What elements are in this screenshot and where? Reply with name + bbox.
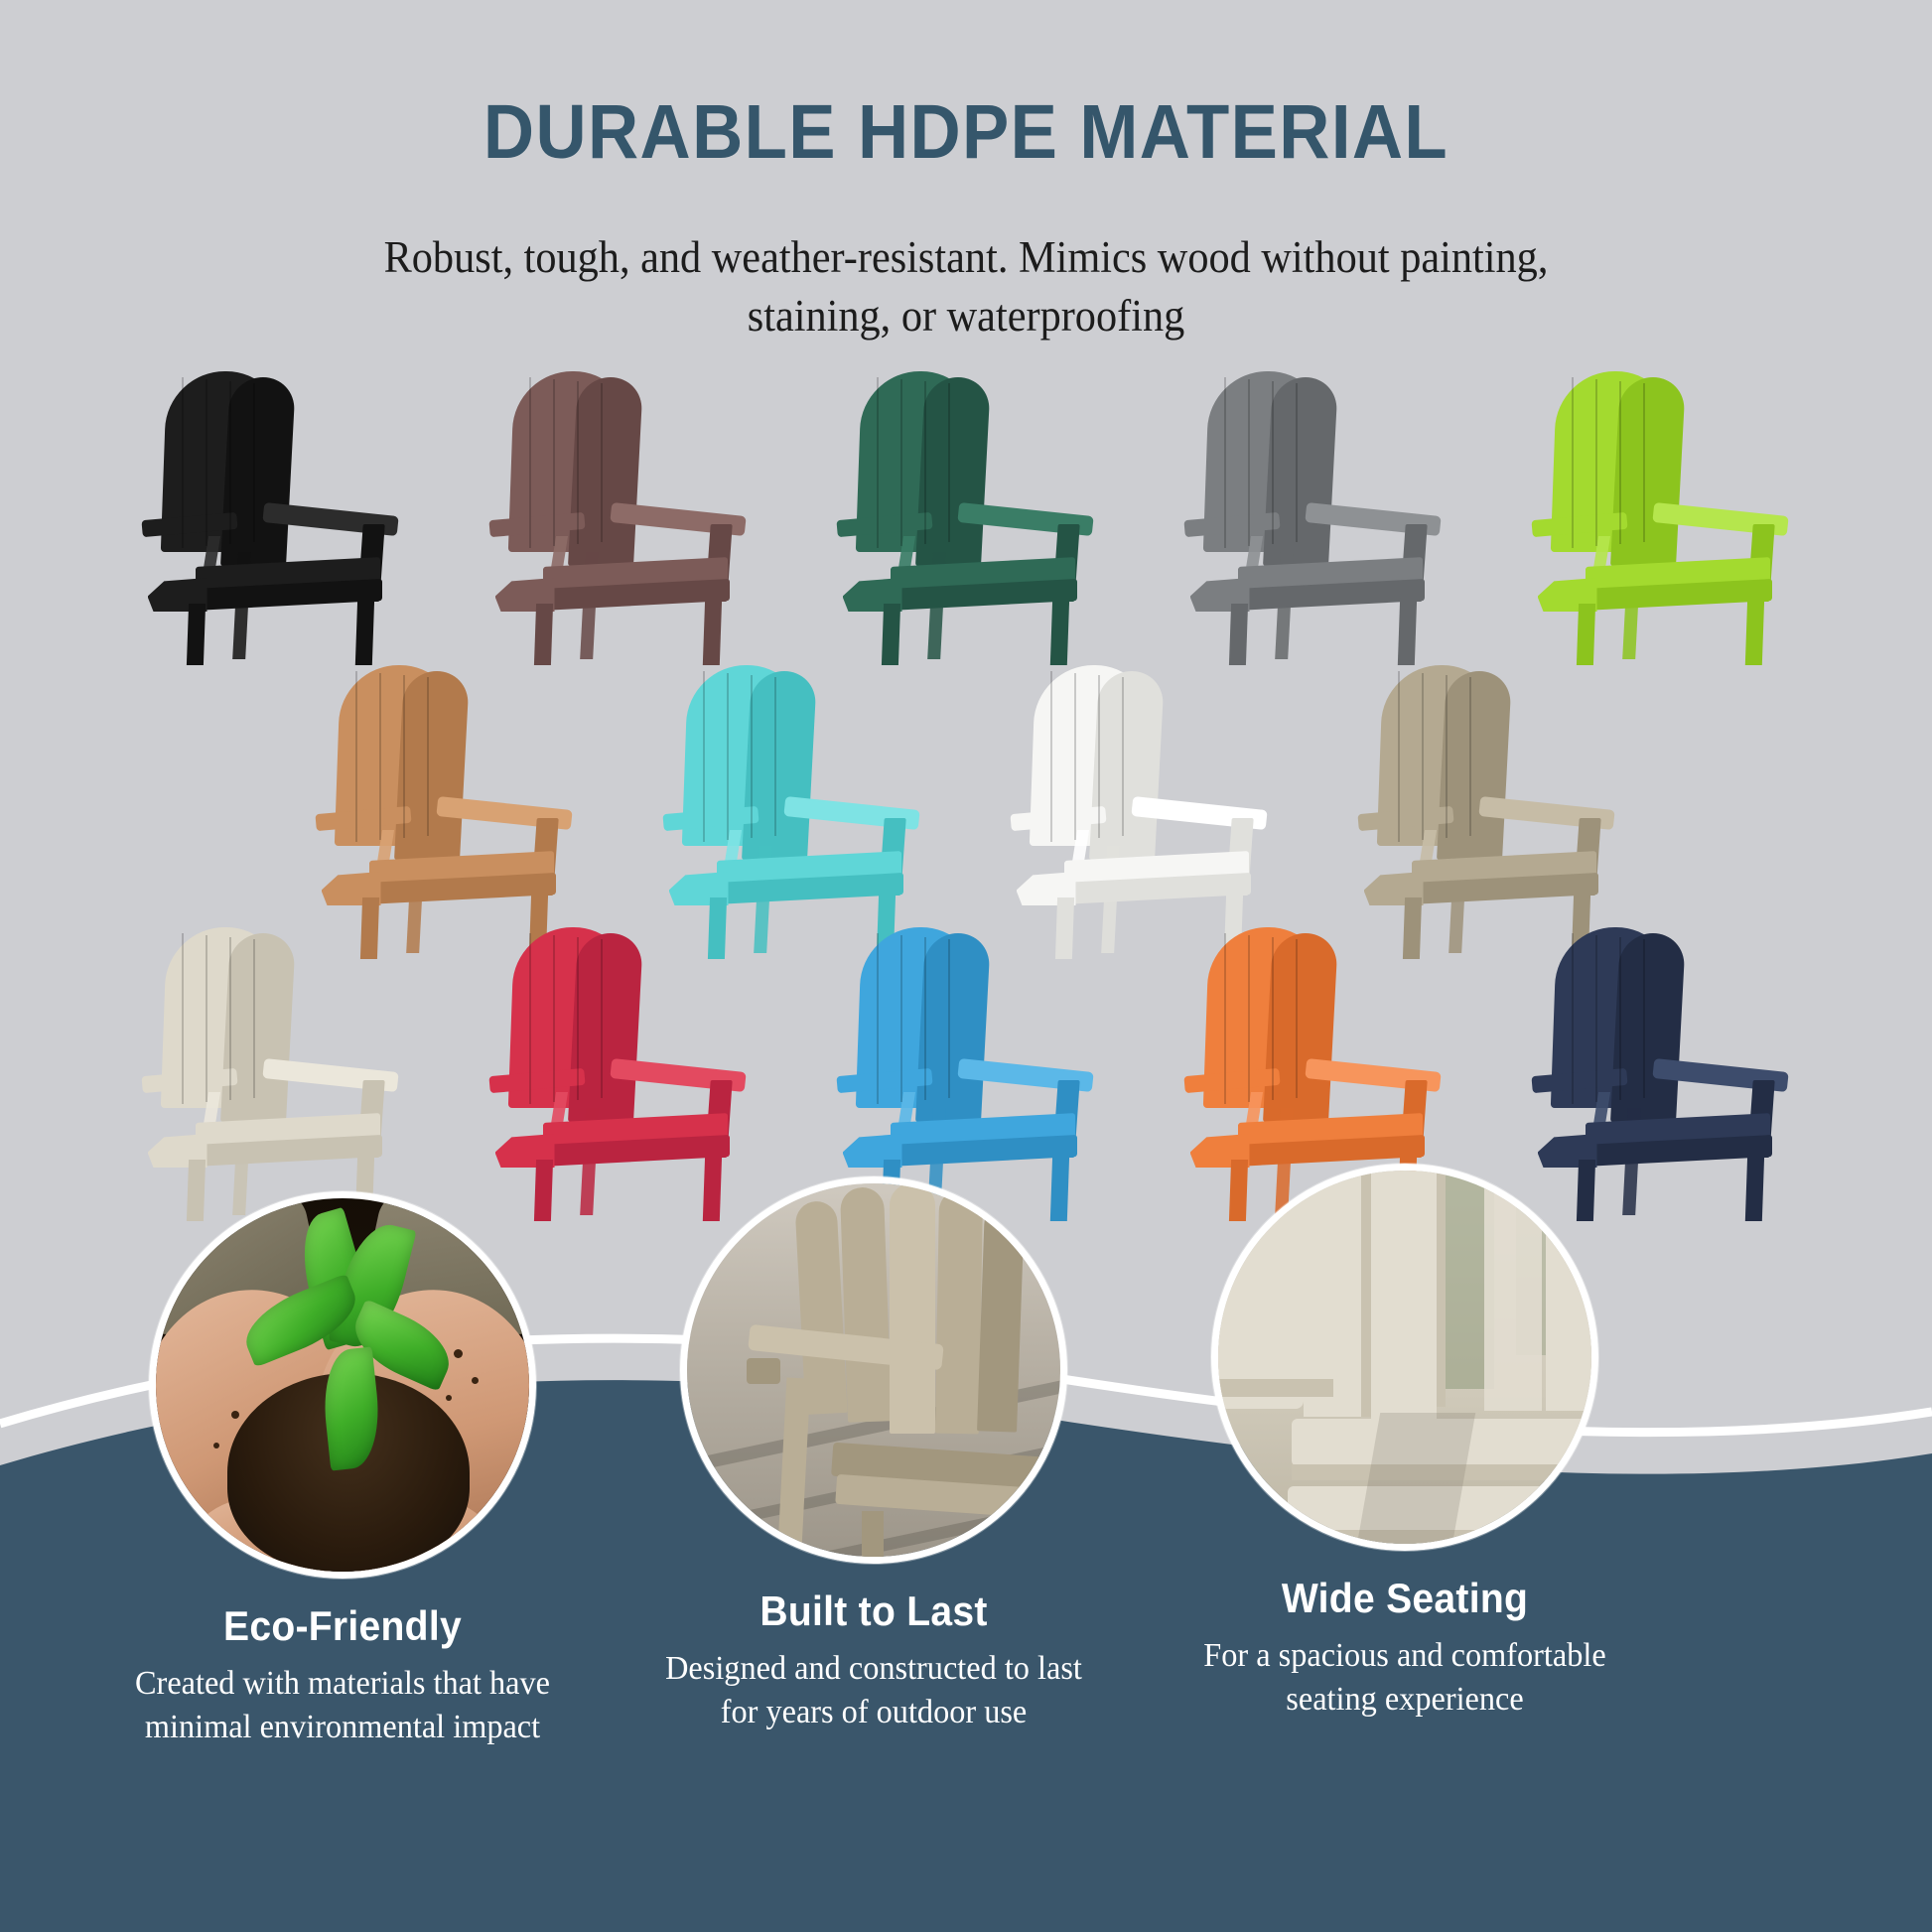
chair-back-slat-line bbox=[427, 677, 429, 836]
chair-part-back2 bbox=[1610, 933, 1686, 1122]
chair-back-slat-line bbox=[900, 379, 902, 546]
feature-eco-friendly: Eco-Friendly Created with materials that… bbox=[109, 1191, 576, 1749]
chair-swatch-khaki[interactable] bbox=[1346, 661, 1629, 959]
chair-back-slat-line bbox=[1224, 933, 1226, 1104]
chair-back-slat-line bbox=[948, 939, 950, 1098]
chair-back-slat-line bbox=[1572, 377, 1574, 548]
chair-part-back2 bbox=[915, 377, 991, 566]
chair-swatch-brown[interactable] bbox=[478, 367, 760, 665]
chair-back-slat-line bbox=[1643, 939, 1645, 1098]
adirondack-chair-icon bbox=[999, 661, 1282, 959]
adirondack-chair-icon bbox=[1173, 367, 1455, 665]
chair-part-back2 bbox=[1089, 671, 1165, 860]
chair-back-slat-line bbox=[1098, 675, 1100, 838]
chair-back-slat-line bbox=[877, 377, 879, 548]
chair-back-slat-line bbox=[1296, 383, 1298, 542]
chair-swatch-teak[interactable] bbox=[304, 661, 587, 959]
chair-back-slat-line bbox=[601, 939, 603, 1098]
chair-back-slat-line bbox=[924, 937, 926, 1100]
chair-swatch-dark-green[interactable] bbox=[825, 367, 1108, 665]
chair-part-legL bbox=[533, 604, 552, 665]
page-title: DURABLE HDPE MATERIAL bbox=[77, 94, 1855, 171]
adirondack-chair-icon bbox=[651, 661, 934, 959]
adirondack-chair-icon bbox=[304, 661, 587, 959]
chair-swatch-white[interactable] bbox=[999, 661, 1282, 959]
chair-back-slat-line bbox=[1248, 935, 1250, 1102]
chair-back-slat-line bbox=[206, 935, 207, 1102]
chair-back-slat-line bbox=[1643, 383, 1645, 542]
chair-back-slat-line bbox=[529, 377, 531, 548]
chair-back-slat-line bbox=[182, 933, 184, 1104]
chair-part-legL bbox=[186, 604, 205, 665]
feature-title-built-to-last: Built to Last bbox=[656, 1587, 1090, 1635]
chair-back-slat-line bbox=[703, 671, 705, 842]
chair-part-back2 bbox=[1263, 933, 1338, 1122]
chair-back-slat-line bbox=[751, 675, 753, 838]
feature-title-eco-friendly: Eco-Friendly bbox=[125, 1602, 559, 1650]
chair-part-legR bbox=[1744, 1154, 1763, 1221]
chair-swatch-ivory[interactable] bbox=[130, 923, 413, 1221]
chair-part-back2 bbox=[1437, 671, 1512, 860]
feature-description-built-to-last: Designed and constructed to last for yea… bbox=[652, 1647, 1096, 1734]
chair-back-slat-line bbox=[229, 937, 231, 1100]
chair-part-back2 bbox=[568, 933, 643, 1122]
chair-part-legL bbox=[881, 604, 899, 665]
chair-row-2 bbox=[0, 661, 1932, 959]
chair-part-legR bbox=[702, 598, 721, 665]
chair-back-slat-line bbox=[1595, 935, 1597, 1102]
chair-part-back2 bbox=[568, 377, 643, 566]
chair-back-slat-line bbox=[379, 673, 381, 840]
chair-back-slat-line bbox=[355, 671, 357, 842]
chair-part-back2 bbox=[220, 933, 296, 1122]
chair-part-legR bbox=[1397, 598, 1416, 665]
feature-title-wide-seating: Wide Seating bbox=[1187, 1575, 1621, 1622]
chair-back-slat-line bbox=[948, 383, 950, 542]
chair-back-slat-line bbox=[601, 383, 603, 542]
chair-back-slat-line bbox=[1074, 673, 1076, 840]
feature-image-wide-seating bbox=[1211, 1164, 1598, 1551]
chair-back-slat-line bbox=[1422, 673, 1424, 840]
chair-swatch-black[interactable] bbox=[130, 367, 413, 665]
chair-back-slat-line bbox=[1296, 939, 1298, 1098]
chair-part-back2 bbox=[220, 377, 296, 566]
chair-swatch-turquoise[interactable] bbox=[651, 661, 934, 959]
chair-part-legL bbox=[1576, 604, 1594, 665]
chair-back-slat-line bbox=[1050, 671, 1052, 842]
chair-back-slat-line bbox=[182, 377, 184, 548]
chair-part-back2 bbox=[1263, 377, 1338, 566]
chair-back-slat-line bbox=[1619, 381, 1621, 544]
chair-back-slat-line bbox=[1224, 377, 1226, 548]
chair-back-slat-line bbox=[253, 939, 255, 1098]
chair-back-slat-line bbox=[229, 381, 231, 544]
feature-description-wide-seating: For a spacious and comfortable seating e… bbox=[1183, 1634, 1627, 1722]
chair-back-slat-line bbox=[577, 937, 579, 1100]
chair-part-legR bbox=[1049, 598, 1068, 665]
chair-back-slat-line bbox=[1398, 671, 1400, 842]
chair-back-slat-line bbox=[1248, 379, 1250, 546]
chair-part-legL bbox=[1228, 604, 1247, 665]
chair-part-back2 bbox=[1610, 377, 1686, 566]
page-subtitle: Robust, tough, and weather-resistant. Mi… bbox=[313, 228, 1619, 346]
chair-back-slat-line bbox=[1619, 937, 1621, 1100]
feature-description-eco-friendly: Created with materials that have minimal… bbox=[121, 1662, 565, 1749]
feature-image-eco-friendly bbox=[149, 1191, 536, 1579]
chair-back-slat-line bbox=[253, 383, 255, 542]
chair-back-slat-line bbox=[1595, 379, 1597, 546]
chair-back-slat-line bbox=[577, 381, 579, 544]
chair-part-back2 bbox=[915, 933, 991, 1122]
adirondack-chair-icon bbox=[825, 367, 1108, 665]
chair-back-slat-line bbox=[1272, 937, 1274, 1100]
chair-part-legR bbox=[354, 598, 373, 665]
chair-back-slat-line bbox=[206, 379, 207, 546]
chair-back-slat-line bbox=[1572, 933, 1574, 1104]
adirondack-chair-icon bbox=[130, 367, 413, 665]
chair-back-slat-line bbox=[774, 677, 776, 836]
chair-back-slat-line bbox=[1446, 675, 1448, 838]
chair-back-slat-line bbox=[1272, 381, 1274, 544]
adirondack-chair-icon bbox=[130, 923, 413, 1221]
chair-color-grid bbox=[0, 367, 1932, 1251]
chair-part-legR bbox=[1744, 598, 1763, 665]
chair-back-slat-line bbox=[924, 381, 926, 544]
chair-back-slat-line bbox=[553, 935, 555, 1102]
chair-back-slat-line bbox=[1469, 677, 1471, 836]
feature-image-built-to-last bbox=[680, 1176, 1067, 1564]
feature-wide-seating: Wide Seating For a spacious and comforta… bbox=[1172, 1164, 1638, 1722]
chair-row-1 bbox=[0, 367, 1932, 665]
adirondack-chair-icon bbox=[478, 367, 760, 665]
chair-part-back2 bbox=[742, 671, 817, 860]
chair-back-slat-line bbox=[553, 379, 555, 546]
adirondack-chair-icon bbox=[1346, 661, 1629, 959]
chair-swatch-gray[interactable] bbox=[1173, 367, 1455, 665]
chair-back-slat-line bbox=[727, 673, 729, 840]
chair-back-slat-line bbox=[900, 935, 902, 1102]
chair-back-slat-line bbox=[403, 675, 405, 838]
chair-back-slat-line bbox=[1122, 677, 1124, 836]
chair-back-slat-line bbox=[529, 933, 531, 1104]
chair-part-back2 bbox=[394, 671, 470, 860]
adirondack-chair-icon bbox=[1520, 367, 1803, 665]
chair-back-slat-line bbox=[877, 933, 879, 1104]
feature-built-to-last: Built to Last Designed and constructed t… bbox=[640, 1176, 1107, 1734]
chair-swatch-lime-green[interactable] bbox=[1520, 367, 1803, 665]
